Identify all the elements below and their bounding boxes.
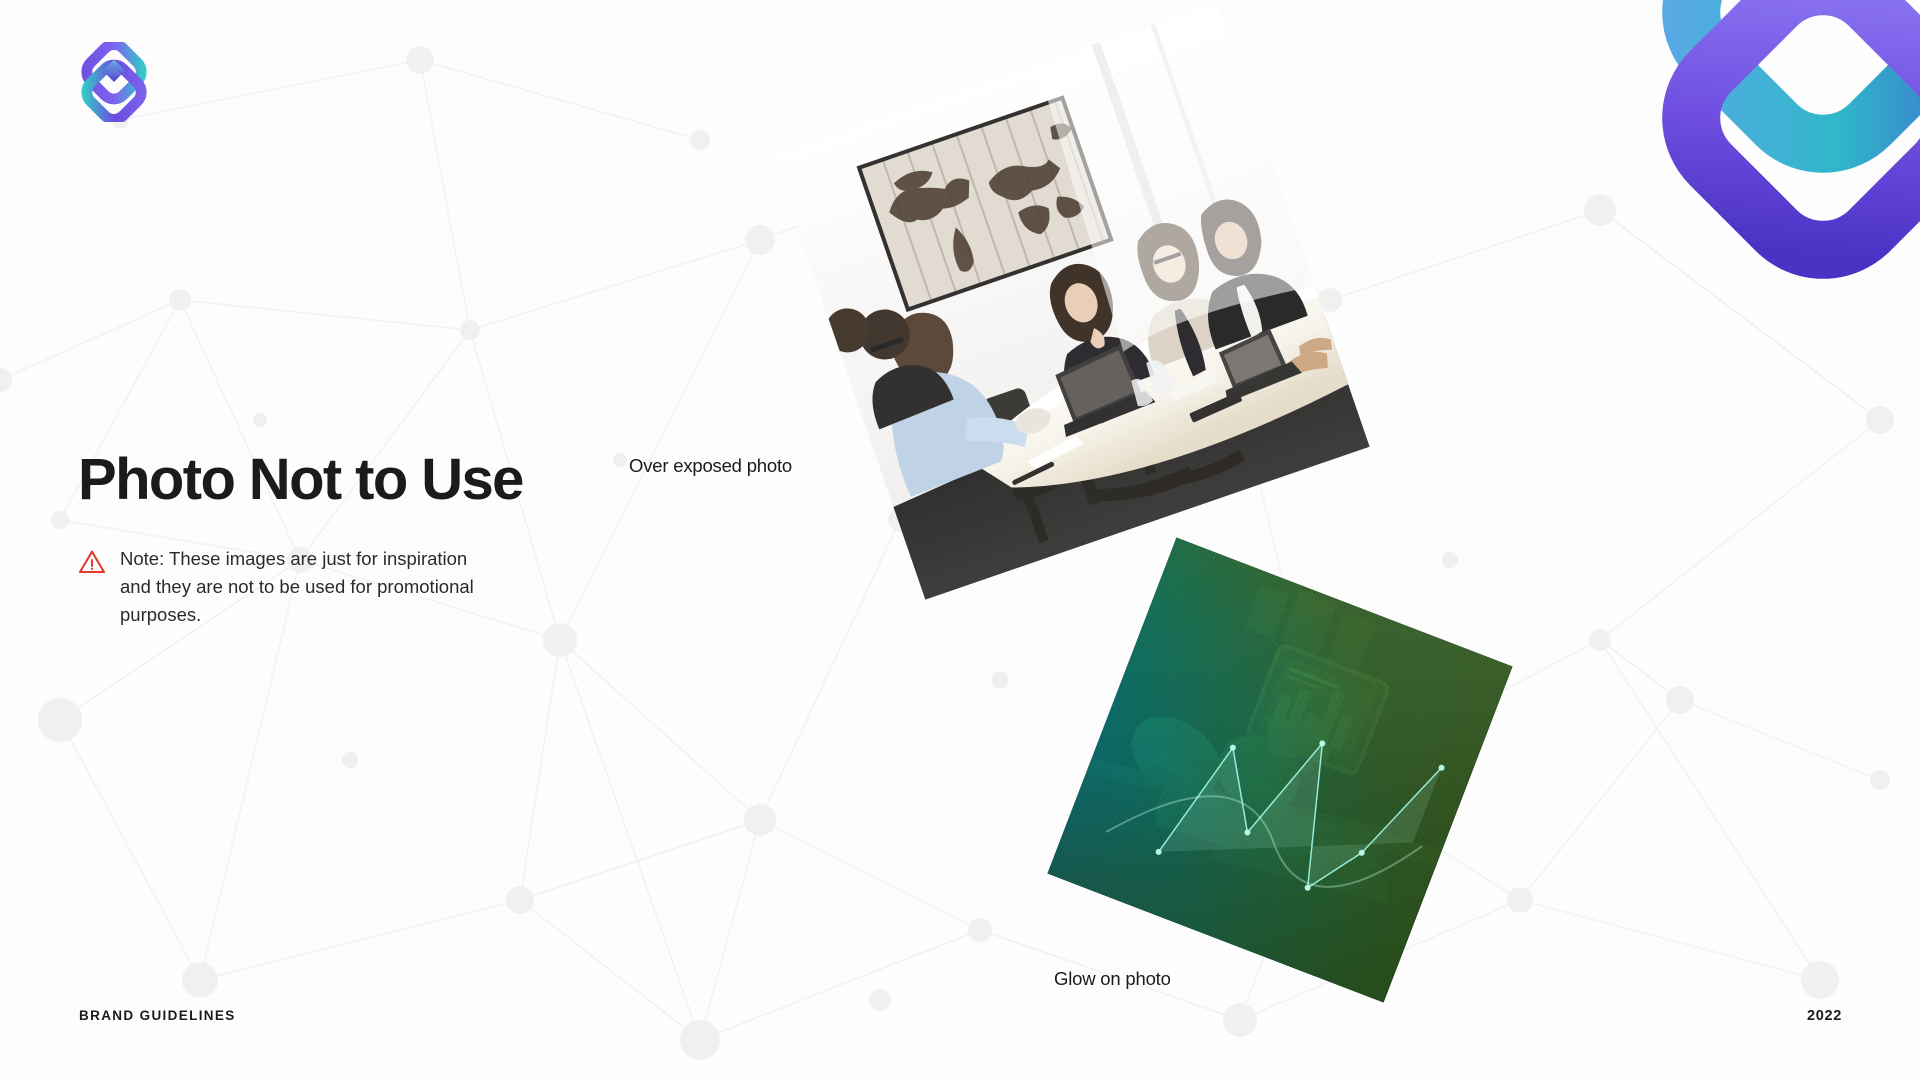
glow-photo-image xyxy=(1047,537,1512,1002)
caption-over-exposed: Over exposed photo xyxy=(629,455,792,477)
over-exposed-photo-image xyxy=(772,2,1369,599)
note-callout: Note: These images are just for inspirat… xyxy=(78,545,498,629)
brand-logo-icon xyxy=(78,42,150,122)
page-title: Photo Not to Use xyxy=(78,450,523,511)
corner-brand-mark-icon xyxy=(1608,0,1920,280)
caption-glow: Glow on photo xyxy=(1054,968,1171,990)
note-text: Note: These images are just for inspirat… xyxy=(120,545,498,629)
footer-brand-guidelines: BRAND GUIDELINES xyxy=(79,1008,236,1023)
photo-glow xyxy=(1047,537,1512,1002)
photo-over-exposed xyxy=(772,2,1369,599)
warning-triangle-icon xyxy=(78,549,106,575)
slide-canvas: Photo Not to Use Note: These images are … xyxy=(0,0,1920,1080)
footer-year: 2022 xyxy=(1807,1008,1842,1024)
